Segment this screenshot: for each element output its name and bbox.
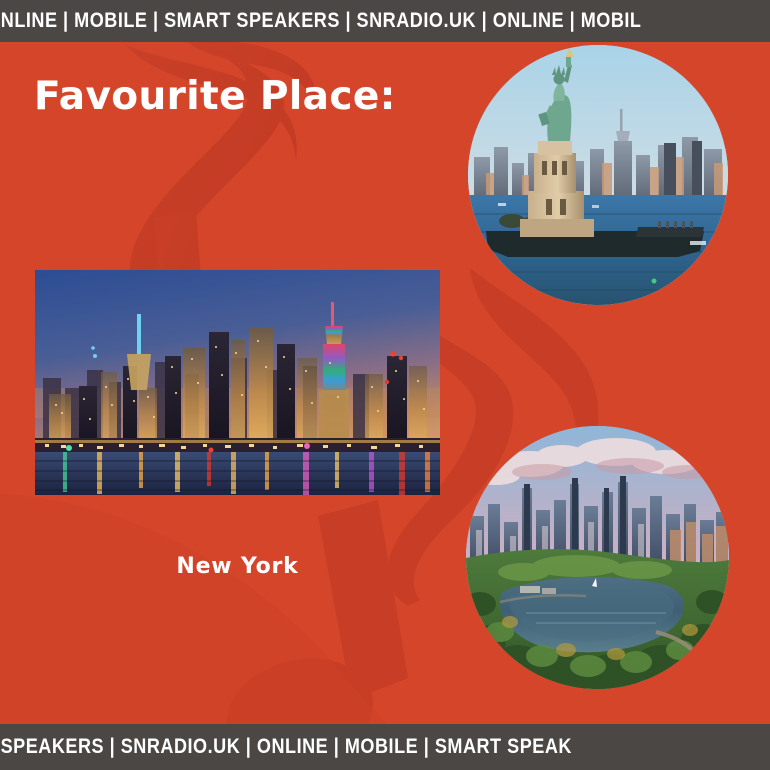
photo-central-park-aerial: [466, 426, 729, 689]
top-marquee-banner: K | ONLINE | MOBILE | SMART SPEAKERS | S…: [0, 0, 770, 42]
page-title: Favourite Place:: [34, 74, 396, 119]
night-skyline-artwork: [35, 270, 440, 495]
top-marquee-text: K | ONLINE | MOBILE | SMART SPEAKERS | S…: [0, 9, 641, 33]
bottom-marquee-banner: ILE | SMART SPEAKERS | SNRADIO.UK | ONLI…: [0, 724, 770, 770]
statue-of-liberty-artwork: [468, 45, 728, 305]
central-park-artwork: [466, 426, 729, 689]
photo-new-york-night-skyline: [35, 270, 440, 495]
media-caption: New York: [35, 554, 440, 579]
slide-canvas: K | ONLINE | MOBILE | SMART SPEAKERS | S…: [0, 0, 770, 770]
photo-statue-of-liberty: [468, 45, 728, 305]
bottom-marquee-text: ILE | SMART SPEAKERS | SNRADIO.UK | ONLI…: [0, 735, 572, 759]
